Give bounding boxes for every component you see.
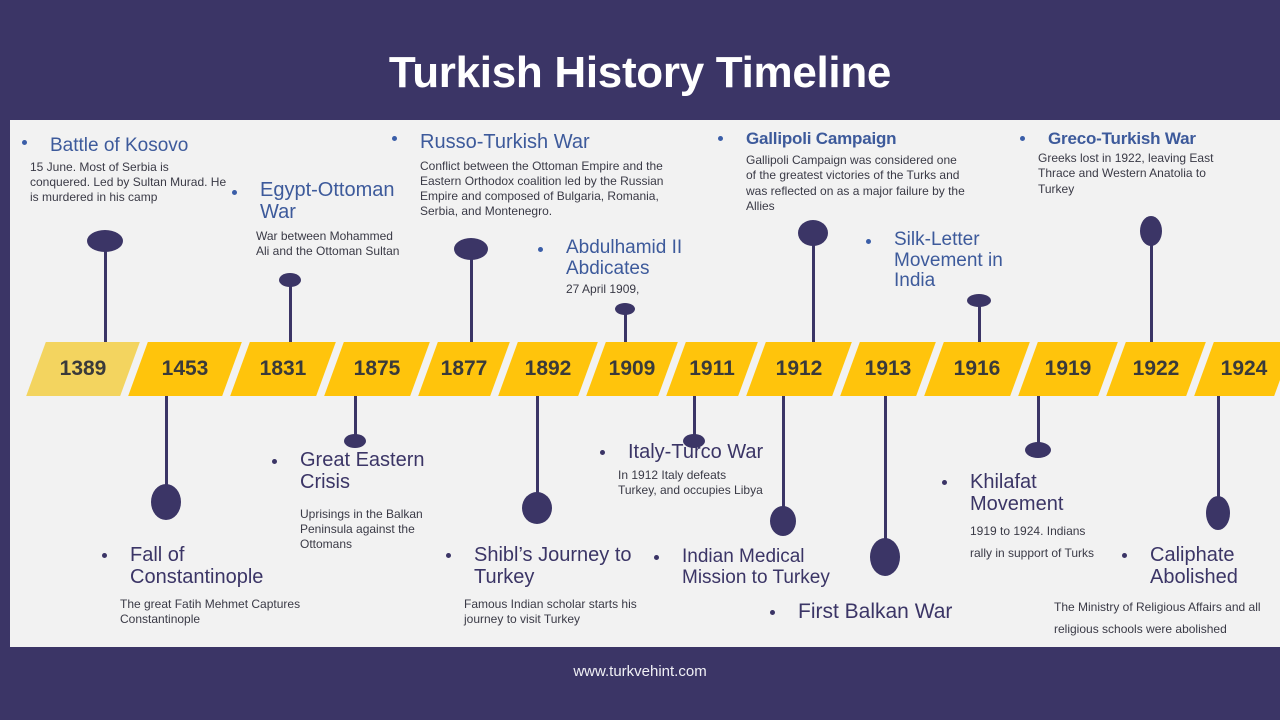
pin-1919 bbox=[1025, 396, 1051, 458]
year-label: 1831 bbox=[240, 342, 326, 396]
pin-1877 bbox=[454, 238, 488, 342]
event-title: Egypt-Ottoman War bbox=[260, 180, 402, 223]
pin-stem bbox=[536, 396, 539, 498]
year-chip-1875[interactable]: 1875 bbox=[324, 342, 430, 396]
pin-1909 bbox=[615, 303, 635, 342]
event-khilafat-movement[interactable]: Khilafat Movement 1919 to 1924. Indians … bbox=[942, 472, 1102, 564]
pin-1389 bbox=[87, 230, 123, 342]
slide-root: Turkish History Timeline 1389 1453 1831 … bbox=[0, 0, 1280, 720]
year-label: 1453 bbox=[138, 342, 232, 396]
year-chip-1922[interactable]: 1922 bbox=[1106, 342, 1206, 396]
event-title: Russo-Turkish War bbox=[420, 132, 692, 154]
event-abdulhamid-ii-abdicates[interactable]: Abdulhamid II Abdicates 27 April 1909, bbox=[538, 238, 708, 297]
event-title: First Balkan War bbox=[798, 601, 985, 624]
pin-stem bbox=[1217, 396, 1220, 504]
year-label: 1912 bbox=[756, 342, 842, 396]
event-body: Gallipoli Campaign was considered one of… bbox=[746, 153, 968, 213]
year-chip-1909[interactable]: 1909 bbox=[586, 342, 678, 396]
year-label: 1922 bbox=[1116, 342, 1196, 396]
bullet-icon bbox=[272, 459, 277, 464]
year-chip-1892[interactable]: 1892 bbox=[498, 342, 598, 396]
bullet-icon bbox=[392, 136, 397, 141]
pin-1912 bbox=[798, 220, 828, 342]
event-title: Abdulhamid II Abdicates bbox=[566, 238, 708, 279]
pin-1831 bbox=[279, 273, 301, 342]
year-label: 1916 bbox=[934, 342, 1020, 396]
event-body: 15 June. Most of Serbia is conquered. Le… bbox=[30, 160, 232, 205]
pin-stem bbox=[978, 304, 981, 342]
event-body: In 1912 Italy defeats Turkey, and occupi… bbox=[618, 468, 765, 498]
timeline-canvas: 1389 1453 1831 1875 1877 1892 1909 1911 … bbox=[10, 120, 1280, 647]
pin-stem bbox=[693, 396, 696, 438]
pin-stem bbox=[104, 248, 107, 342]
event-egypt-ottoman-war[interactable]: Egypt-Ottoman War War between Mohammed A… bbox=[232, 180, 402, 259]
bullet-icon bbox=[942, 480, 947, 485]
year-chip-1913[interactable]: 1913 bbox=[840, 342, 936, 396]
timeline-bar: 1389 1453 1831 1875 1877 1892 1909 1911 … bbox=[10, 120, 1280, 647]
year-chip-1924[interactable]: 1924 bbox=[1194, 342, 1280, 396]
event-body: 27 April 1909, bbox=[566, 282, 708, 297]
pin-stem bbox=[1037, 396, 1040, 446]
year-label: 1919 bbox=[1028, 342, 1108, 396]
event-body: War between Mohammed Ali and the Ottoman… bbox=[256, 229, 402, 259]
event-title: Gallipoli Campaign bbox=[746, 130, 968, 148]
event-title: Shibl’s Journey to Turkey bbox=[474, 545, 661, 588]
event-body: Conflict between the Ottoman Empire and … bbox=[420, 159, 692, 219]
event-caliphate-abolished[interactable]: Caliphate Abolished The Ministry of Reli… bbox=[1122, 545, 1280, 640]
pin-1875 bbox=[344, 396, 366, 448]
year-label: 1924 bbox=[1204, 342, 1280, 396]
bullet-icon bbox=[654, 555, 659, 560]
event-title: Khilafat Movement bbox=[970, 472, 1102, 515]
event-fall-of-constantinople[interactable]: Fall of Constantinople The great Fatih M… bbox=[102, 545, 302, 627]
pin-stem bbox=[1150, 240, 1153, 342]
year-label: 1877 bbox=[428, 342, 500, 396]
event-body: The great Fatih Mehmet Captures Constant… bbox=[120, 597, 302, 627]
event-body: 1919 to 1924. Indians rally in support o… bbox=[970, 521, 1102, 564]
event-silk-letter-movement[interactable]: Silk-Letter Movement in India bbox=[866, 230, 1011, 292]
year-label: 1389 bbox=[36, 342, 130, 396]
pin-1453 bbox=[151, 396, 181, 520]
pin-stem bbox=[884, 396, 887, 544]
bullet-icon bbox=[718, 136, 723, 141]
event-battle-of-kosovo[interactable]: Battle of Kosovo 15 June. Most of Serbia… bbox=[22, 136, 232, 205]
event-title: Battle of Kosovo bbox=[50, 136, 232, 157]
bullet-icon bbox=[232, 190, 237, 195]
footer-url: www.turkvehint.com bbox=[0, 663, 1280, 680]
pin-stem bbox=[354, 396, 357, 438]
page-title: Turkish History Timeline bbox=[0, 48, 1280, 98]
event-title: Caliphate Abolished bbox=[1150, 545, 1280, 588]
year-label: 1913 bbox=[850, 342, 926, 396]
bullet-icon bbox=[770, 610, 775, 615]
event-title: Silk-Letter Movement in India bbox=[894, 230, 1011, 292]
bullet-icon bbox=[22, 140, 27, 145]
year-chip-1912[interactable]: 1912 bbox=[746, 342, 852, 396]
bullet-icon bbox=[538, 247, 543, 252]
pin-stem bbox=[812, 241, 815, 342]
bullet-icon bbox=[102, 553, 107, 558]
event-body: Uprisings in the Balkan Peninsula agains… bbox=[300, 507, 457, 552]
bullet-icon bbox=[600, 450, 605, 455]
year-chip-1911[interactable]: 1911 bbox=[666, 342, 758, 396]
year-chip-1389[interactable]: 1389 bbox=[26, 342, 140, 396]
bullet-icon bbox=[866, 239, 871, 244]
pin-stem bbox=[782, 396, 785, 511]
year-chip-1919[interactable]: 1919 bbox=[1018, 342, 1118, 396]
event-gallipoli-campaign[interactable]: Gallipoli Campaign Gallipoli Campaign wa… bbox=[718, 130, 968, 214]
event-italy-turco-war[interactable]: Italy-Turco War In 1912 Italy defeats Tu… bbox=[600, 442, 765, 498]
event-title: Great Eastern Crisis bbox=[300, 450, 457, 493]
pin-1911b bbox=[770, 396, 796, 536]
pin-stem bbox=[624, 312, 627, 342]
event-body: The Ministry of Religious Affairs and al… bbox=[1054, 597, 1280, 640]
bullet-icon bbox=[1122, 553, 1127, 558]
year-chip-1877[interactable]: 1877 bbox=[418, 342, 510, 396]
pin-stem bbox=[165, 396, 168, 496]
event-body: Famous Indian scholar starts his journey… bbox=[464, 597, 661, 627]
pin-stem bbox=[470, 256, 473, 342]
pin-1892 bbox=[522, 396, 552, 524]
event-title: Greco-Turkish War bbox=[1048, 130, 1240, 148]
pin-1924 bbox=[1206, 396, 1230, 530]
bullet-icon bbox=[446, 553, 451, 558]
event-great-eastern-crisis[interactable]: Great Eastern Crisis Uprisings in the Ba… bbox=[272, 450, 457, 553]
year-chip-1453[interactable]: 1453 bbox=[128, 342, 242, 396]
event-greco-turkish-war[interactable]: Greco-Turkish War Greeks lost in 1922, l… bbox=[1020, 130, 1240, 197]
year-label: 1909 bbox=[596, 342, 668, 396]
footer-bar: www.turkvehint.com bbox=[0, 647, 1280, 720]
header-bar: Turkish History Timeline bbox=[0, 0, 1280, 120]
year-label: 1875 bbox=[334, 342, 420, 396]
event-indian-medical-mission[interactable]: Indian Medical Mission to Turkey bbox=[654, 547, 839, 588]
event-body: Greeks lost in 1922, leaving East Thrace… bbox=[1038, 151, 1240, 196]
bullet-icon bbox=[1020, 136, 1025, 141]
event-title: Italy-Turco War bbox=[628, 442, 765, 464]
event-russo-turkish-war[interactable]: Russo-Turkish War Conflict between the O… bbox=[392, 132, 692, 219]
pin-1913 bbox=[870, 396, 900, 576]
event-first-balkan-war[interactable]: First Balkan War bbox=[770, 601, 985, 624]
event-title: Indian Medical Mission to Turkey bbox=[682, 547, 839, 588]
year-label: 1892 bbox=[508, 342, 588, 396]
pin-1916 bbox=[967, 294, 991, 342]
pin-stem bbox=[289, 284, 292, 342]
event-shibls-journey-to-turkey[interactable]: Shibl’s Journey to Turkey Famous Indian … bbox=[446, 545, 661, 627]
pin-1922 bbox=[1140, 216, 1162, 342]
year-chip-1831[interactable]: 1831 bbox=[230, 342, 336, 396]
year-label: 1911 bbox=[676, 342, 748, 396]
year-chip-1916[interactable]: 1916 bbox=[924, 342, 1030, 396]
